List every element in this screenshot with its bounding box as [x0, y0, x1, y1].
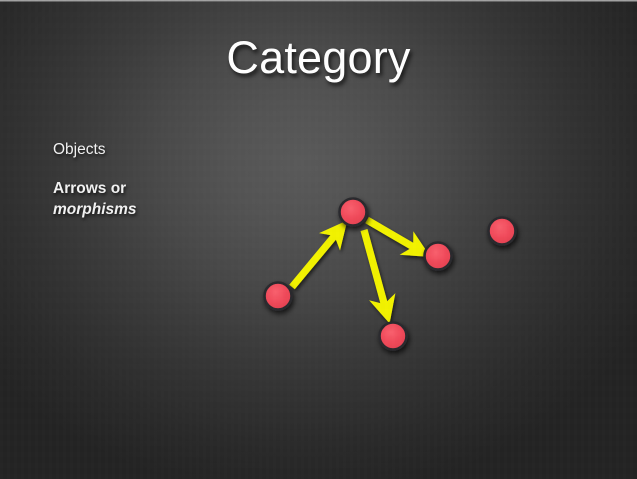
node-left [265, 283, 292, 310]
arrow-top-to-bottom [364, 230, 387, 314]
arrow-top-to-right [367, 220, 422, 252]
node-mid-right [425, 243, 452, 270]
category-diagram [0, 0, 637, 479]
presentation-slide: Category Objects Arrows or morphisms [0, 0, 637, 479]
arrow-group [292, 220, 422, 314]
node-bottom [380, 323, 407, 350]
arrow-left-to-top [292, 228, 341, 287]
node-top-center [340, 199, 367, 226]
node-far-right [489, 218, 516, 245]
